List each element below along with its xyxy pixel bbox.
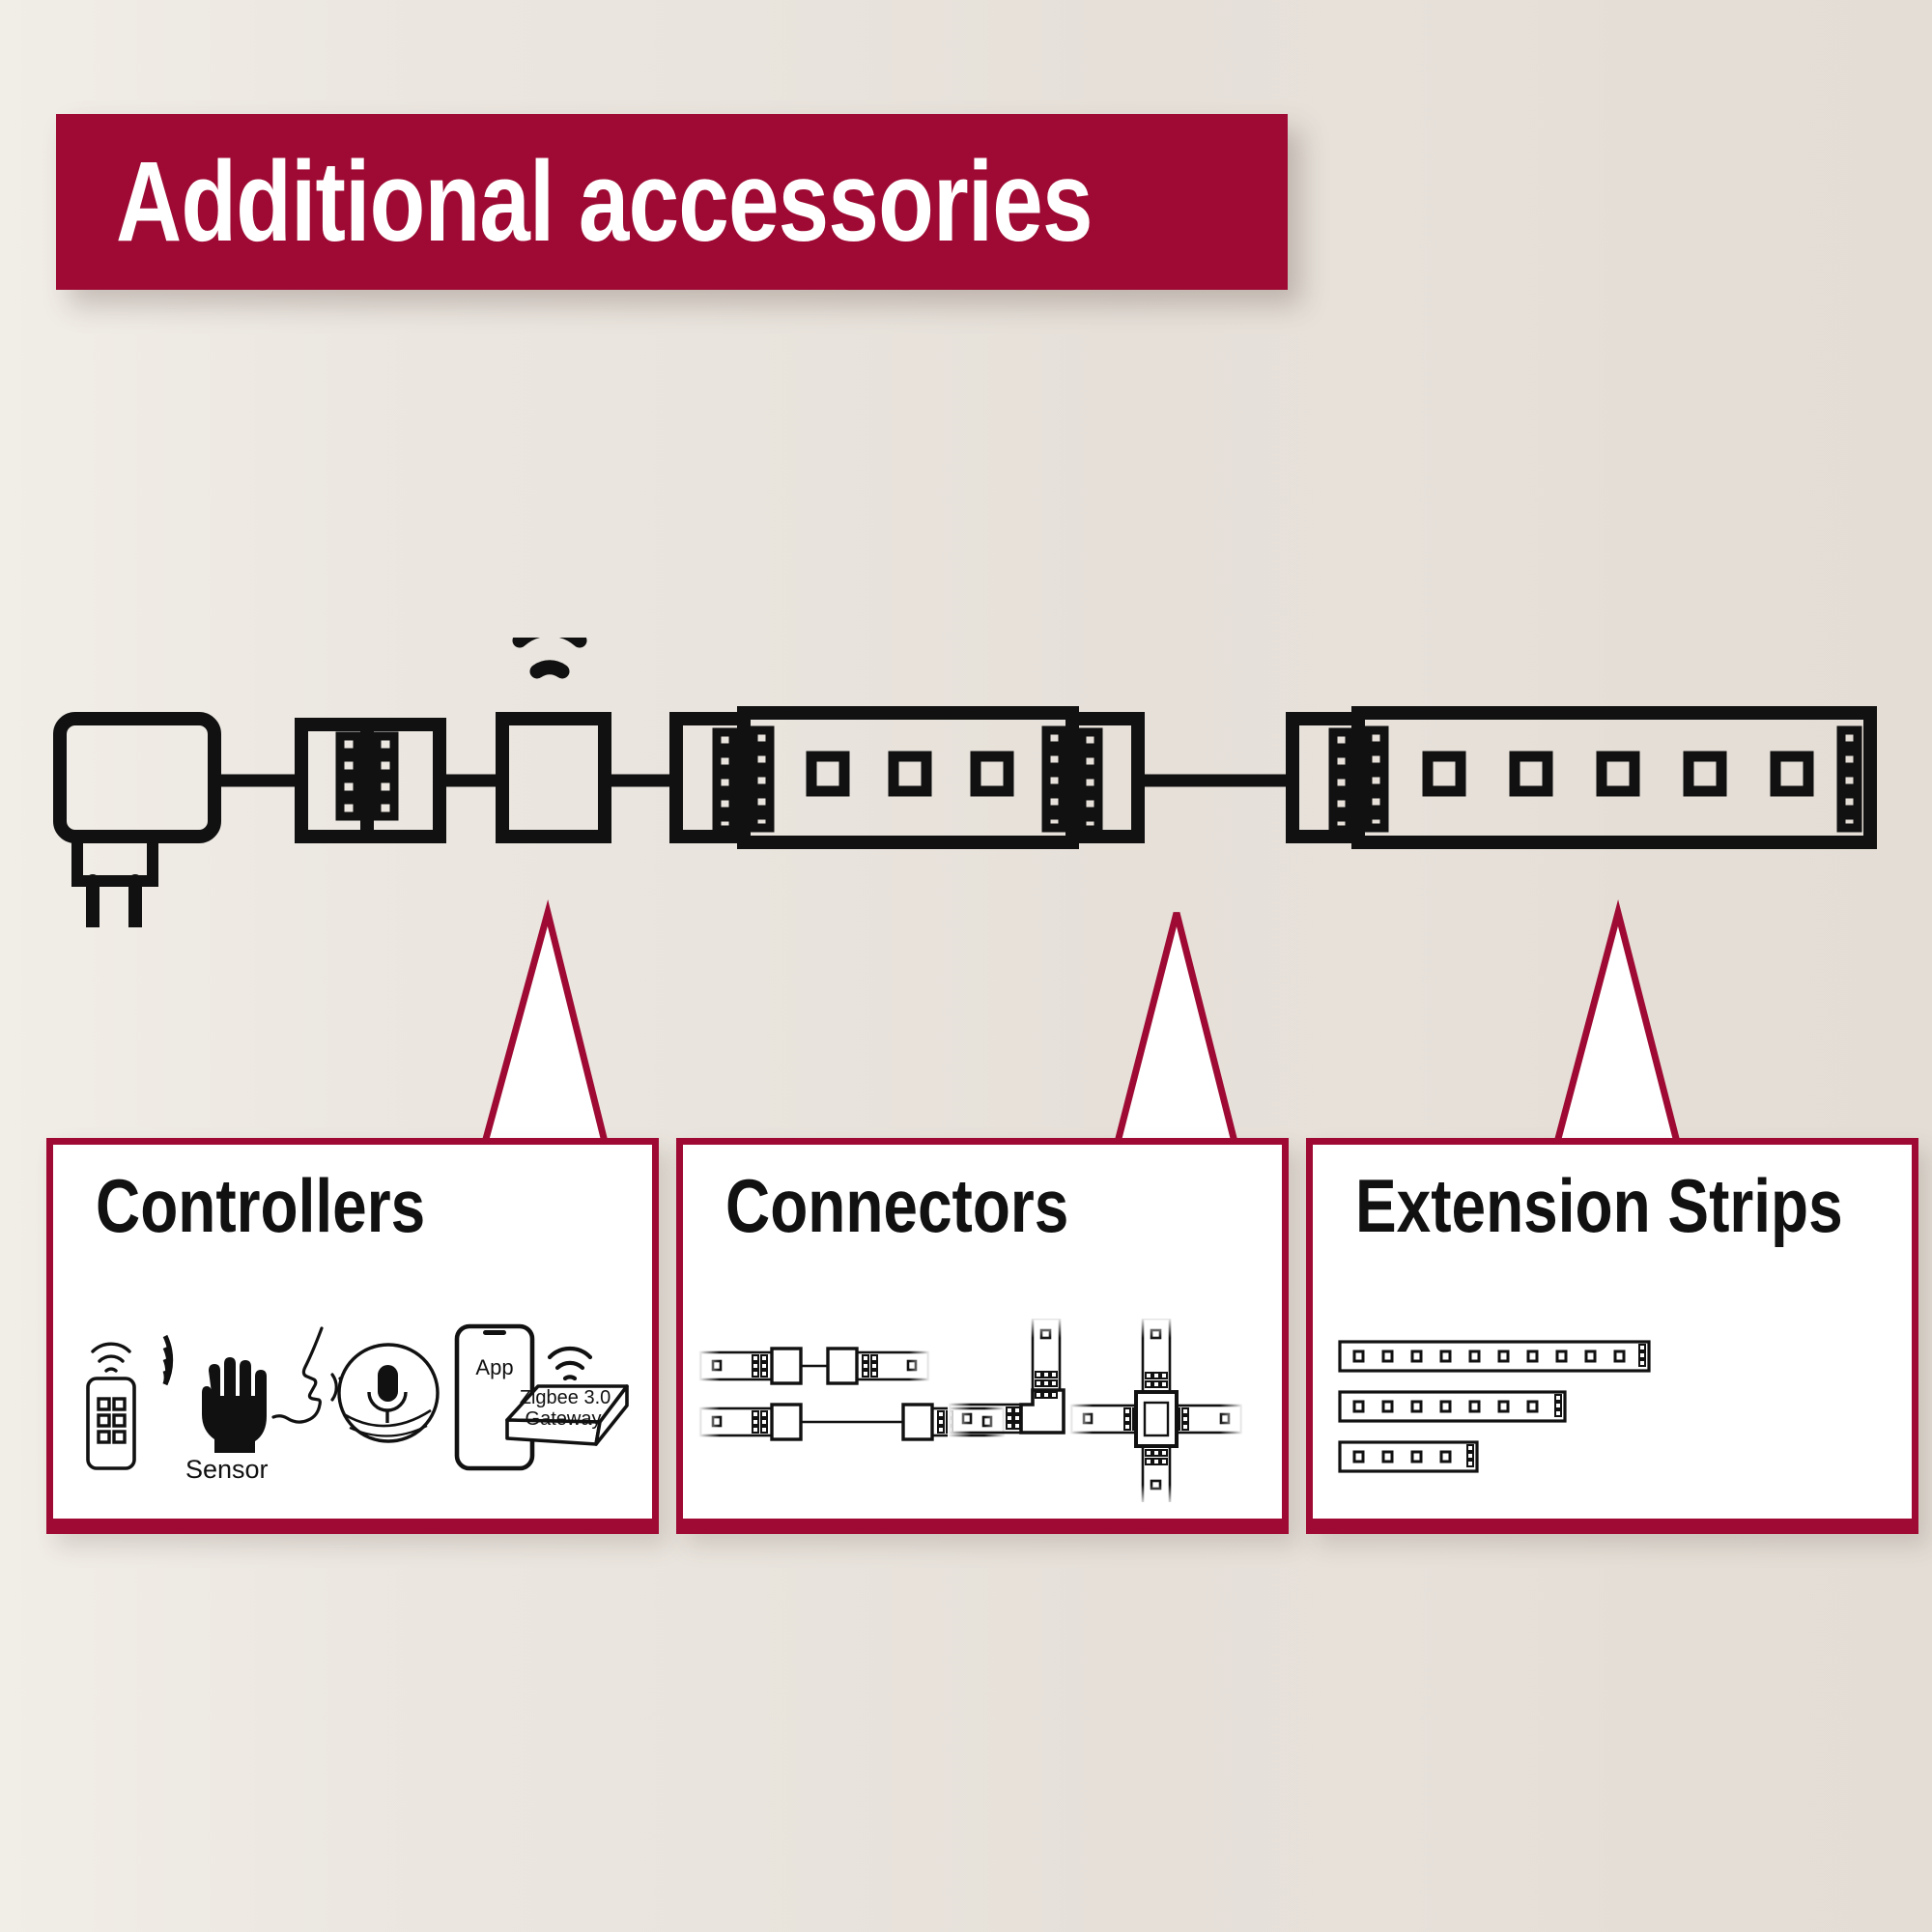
tail-extension bbox=[1555, 913, 1679, 1150]
corner-l-connector-icon bbox=[948, 1319, 1064, 1440]
zigbee-label-line2: Gateway bbox=[526, 1408, 602, 1430]
extension-strip-short bbox=[1340, 1442, 1477, 1471]
cross-x-connector-icon bbox=[1069, 1319, 1243, 1502]
sensor-label: Sensor bbox=[185, 1455, 269, 1484]
extension-strips-artwork bbox=[1313, 1319, 1912, 1502]
callout-title-extension: Extension Strips bbox=[1355, 1168, 1843, 1243]
title-banner: Additional accessories bbox=[56, 114, 1288, 290]
wifi-icon bbox=[501, 638, 598, 671]
led-strip-1 bbox=[676, 713, 1138, 842]
strip-to-strip-short-cable-connector-icon bbox=[698, 1348, 930, 1386]
callout-tails bbox=[0, 0, 1932, 1932]
callout-title-controllers: Controllers bbox=[96, 1168, 425, 1243]
extension-strip-medium bbox=[1340, 1392, 1565, 1421]
power-supply-icon bbox=[60, 719, 214, 927]
page-title: Additional accessories bbox=[116, 145, 1093, 259]
callout-connectors[interactable]: Connectors bbox=[676, 1138, 1289, 1534]
callout-extension-strips[interactable]: Extension Strips bbox=[1306, 1138, 1918, 1534]
strip-connector-icon-1 bbox=[301, 724, 440, 837]
controllers-artwork: Sensor bbox=[53, 1319, 652, 1502]
tail-connectors bbox=[1116, 913, 1236, 1150]
callout-controllers[interactable]: Controllers bbox=[46, 1138, 659, 1534]
led-system-chain-diagram bbox=[0, 638, 1932, 927]
extension-strip-long bbox=[1340, 1342, 1649, 1371]
controller-box-icon bbox=[502, 719, 605, 837]
led-chip bbox=[1428, 756, 1808, 791]
zigbee-label-line1: Zigbee 3.0 bbox=[520, 1387, 611, 1408]
voice-control-speaker-icon bbox=[273, 1328, 438, 1441]
led-strip-2 bbox=[1293, 713, 1870, 842]
remote-control-icon bbox=[88, 1344, 134, 1468]
app-label: App bbox=[475, 1355, 513, 1379]
tail-controllers bbox=[483, 913, 607, 1150]
callout-title-connectors: Connectors bbox=[725, 1168, 1068, 1243]
motion-sensor-hand-icon bbox=[165, 1336, 267, 1453]
connectors-artwork bbox=[683, 1319, 1282, 1502]
led-chip bbox=[811, 756, 1009, 791]
poster-canvas: Additional accessories bbox=[0, 0, 1932, 1932]
